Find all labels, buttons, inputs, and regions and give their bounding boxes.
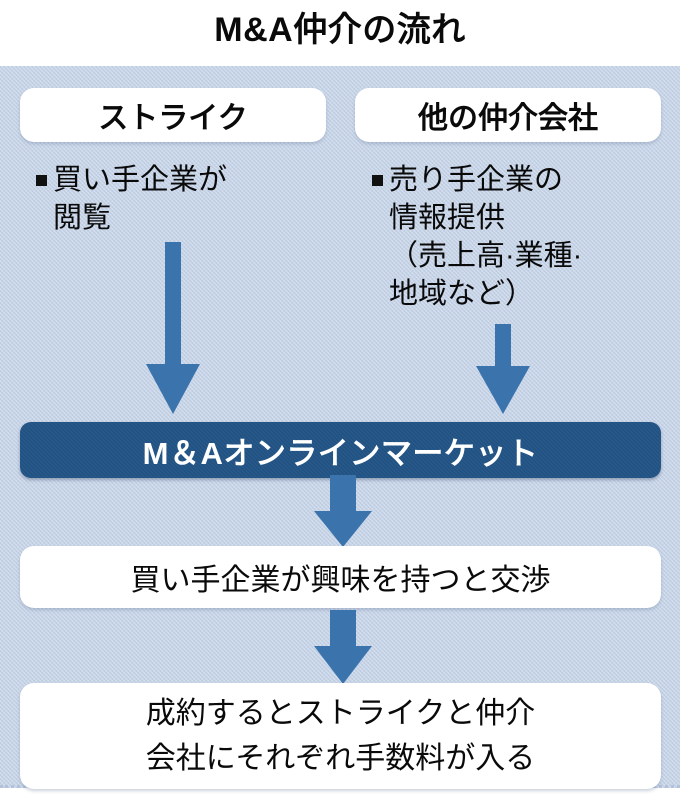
box-other-brokers-label: 他の仲介会社 [418, 93, 598, 137]
page-title: M&A仲介の流れ [0, 8, 680, 52]
diagram-panel: ストライク 他の仲介会社 買い手企業が 閲覧 売り手企業の 情報提供 （売上高·… [0, 66, 680, 788]
bullet-left-text: 買い手企業が 閲覧 [53, 161, 336, 237]
bullet-right: 売り手企業の 情報提供 （売上高·業種· 地域など） [372, 161, 672, 313]
square-bullet-icon [372, 175, 383, 186]
arrow-negotiate-to-fee [310, 610, 376, 686]
box-fee-label: 成約するとストライクと仲介 会社にそれぞれ手数料が入る [146, 691, 535, 781]
bar-ma-online-market: M＆Aオンラインマーケット [20, 422, 661, 478]
bullet-right-text: 売り手企業の 情報提供 （売上高·業種· 地域など） [389, 161, 672, 313]
box-strike: ストライク [20, 88, 326, 142]
box-negotiation-label: 買い手企業が興味を持つと交渉 [131, 555, 551, 599]
box-fee: 成約するとストライクと仲介 会社にそれぞれ手数料が入る [20, 683, 661, 789]
flow-diagram-figure: M&A仲介の流れ ストライク 他の仲介会社 買い手企業が 閲覧 売り手企業の 情… [0, 0, 680, 794]
bar-ma-online-market-label: M＆Aオンラインマーケット [143, 428, 539, 473]
arrow-market-to-negotiate [310, 475, 376, 549]
bullet-left: 買い手企業が 閲覧 [36, 161, 336, 237]
arrow-left-to-market [140, 242, 206, 418]
box-other-brokers: 他の仲介会社 [355, 88, 661, 142]
square-bullet-icon [36, 175, 47, 186]
box-strike-label: ストライク [98, 93, 247, 137]
arrow-right-to-market [470, 324, 536, 418]
box-negotiation: 買い手企業が興味を持つと交渉 [20, 546, 661, 608]
